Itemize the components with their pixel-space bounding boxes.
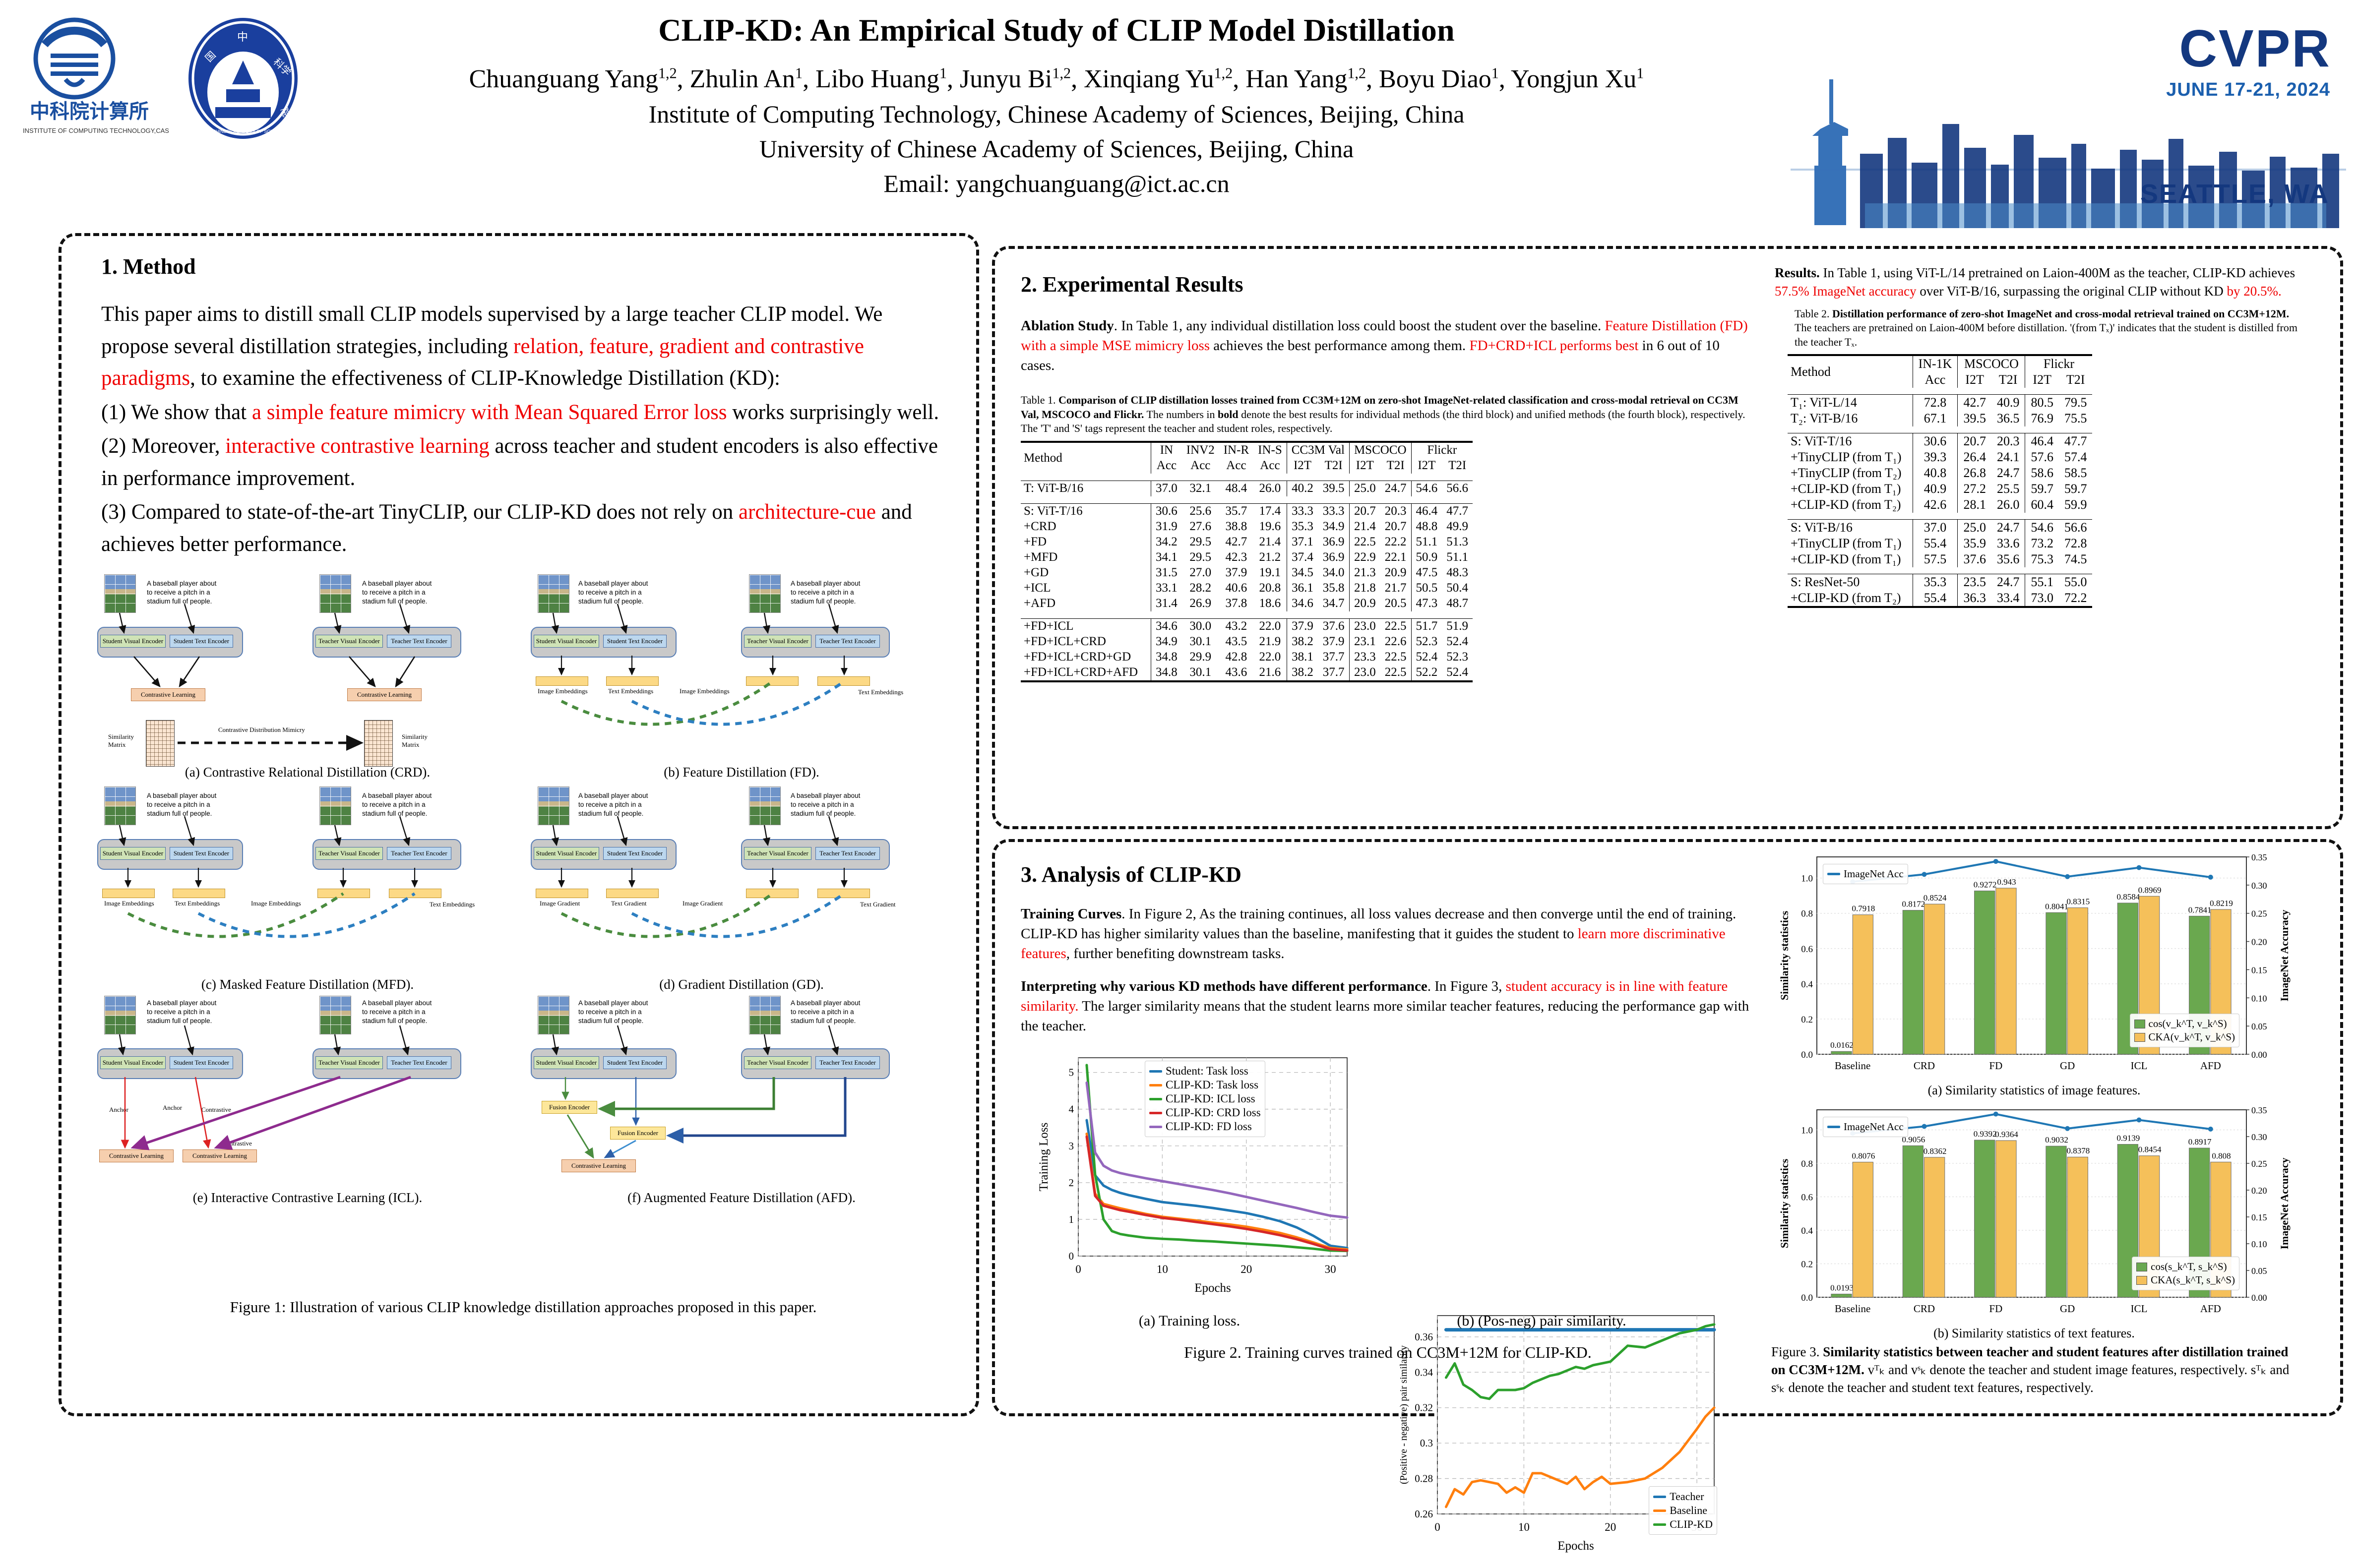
category-label: ICL	[2131, 1060, 2148, 1072]
row-method-label: +FD+ICL+CRD	[1021, 634, 1151, 650]
bar	[1924, 904, 1945, 1054]
svg-text:Similarity statistics: Similarity statistics	[1778, 1158, 1791, 1248]
table-cell: 57.5	[1913, 551, 1958, 567]
col-sub-T2I: T2I	[1991, 372, 2025, 388]
table-cell: 42.7	[1958, 395, 1991, 411]
table-1-distillation-losses: MethodININV2IN-RIN-SCC3M ValMSCOCOFlickr…	[1021, 441, 1473, 682]
table-row: +TinyCLIP (from T₁)39.326.424.157.657.4	[1788, 449, 2092, 465]
table-cell: 34.0	[1318, 565, 1349, 581]
table-row: +CLIP-KD (from T₂)55.436.333.473.072.2	[1788, 590, 2092, 606]
table-cell: 27.6	[1182, 519, 1219, 535]
table-cell: 26.8	[1958, 465, 1991, 481]
bar	[1903, 1146, 1923, 1297]
table-cell: 21.8	[1349, 581, 1380, 596]
table-cell: 22.5	[1349, 535, 1380, 550]
svg-text:20: 20	[1241, 1263, 1252, 1275]
table-cell: 31.4	[1151, 596, 1182, 611]
table-cell: 58.5	[2059, 465, 2093, 481]
row-method-label: +FD+ICL+CRD+AFD	[1021, 665, 1151, 680]
table-cell: 33.6	[1991, 536, 2025, 551]
legend-label: Student: Task loss	[1166, 1065, 1248, 1078]
col-sub-I2T: I2T	[1958, 372, 1991, 388]
svg-text:5: 5	[1069, 1067, 1074, 1079]
table-cell: 52.4	[1442, 665, 1473, 680]
bar	[1853, 1162, 1873, 1297]
table-row: +ICL33.128.240.620.836.135.821.821.750.5…	[1021, 581, 1473, 596]
interpreting-paragraph: Interpreting why various KD methods have…	[1021, 976, 1755, 1036]
table-1-caption: Table 1. Comparison of CLIP distillation…	[1021, 393, 1753, 436]
figure-2: 0123450102030EpochsTraining LossStudent:…	[1021, 1045, 1755, 1362]
legend-item: CKA(s_k^T, s_k^S)	[2136, 1274, 2235, 1286]
svg-text:0.10: 0.10	[2251, 1239, 2267, 1249]
table-cell: 72.8	[1913, 395, 1958, 411]
svg-text:0: 0	[1434, 1521, 1440, 1533]
analysis-left-column: 3. Analysis of CLIP-KD Training Curves. …	[1021, 862, 1755, 1362]
table-cell: 55.4	[1913, 590, 1958, 606]
table-cell: 42.7	[1219, 535, 1253, 550]
category-label: FD	[1989, 1303, 2002, 1315]
bar-value-label: 0.808	[2212, 1151, 2231, 1160]
row-method-label: +CRD	[1021, 519, 1151, 535]
table-cell: 52.4	[1411, 650, 1442, 665]
table-row: +CLIP-KD (from T₂)42.628.126.060.459.9	[1788, 497, 2092, 513]
figure-1c-mfd: A baseball player about to receive a pit…	[94, 784, 521, 992]
panel-analysis: 3. Analysis of CLIP-KD Training Curves. …	[992, 839, 2343, 1416]
table-cell: 47.5	[1411, 565, 1442, 581]
table-cell: 56.6	[1442, 481, 1473, 496]
table-cell: 37.0	[1913, 520, 1958, 536]
table-cell: 58.6	[2025, 465, 2059, 481]
table-row: T: ViT-B/1637.032.148.426.040.239.525.02…	[1021, 481, 1473, 496]
page-title: CLIP-KD: An Empirical Study of CLIP Mode…	[327, 12, 1786, 49]
table-cell: 25.5	[1991, 481, 2025, 497]
bar	[2067, 908, 2088, 1054]
svg-text:ImageNet Accuracy: ImageNet Accuracy	[2278, 909, 2291, 1001]
table-row: +TinyCLIP (from T₂)40.826.824.758.658.5	[1788, 465, 2092, 481]
table-cell: 36.9	[1318, 535, 1349, 550]
figure-2-caption: Figure 2. Training curves trained on CC3…	[1021, 1343, 1755, 1362]
bar	[1924, 1157, 1945, 1297]
svg-text:0.4: 0.4	[1801, 979, 1813, 990]
legend-swatch	[1149, 1126, 1162, 1128]
row-method-label: +CLIP-KD (from T₁)	[1788, 551, 1913, 567]
table-cell: 37.1	[1287, 535, 1318, 550]
table-cell: 34.5	[1287, 565, 1318, 581]
legend-item: Baseline	[1653, 1504, 1713, 1517]
bar-value-label: 0.8315	[2066, 897, 2090, 906]
table-cell: 38.2	[1287, 665, 1318, 680]
svg-text:0.8: 0.8	[1801, 1159, 1813, 1169]
table-cell: 33.4	[1991, 590, 2025, 606]
category-label: ICL	[2131, 1303, 2148, 1315]
svg-text:0.36: 0.36	[1415, 1331, 1433, 1343]
method-paragraph-4: (3) Compared to state-of-the-art TinyCLI…	[101, 496, 944, 560]
table-cell: 38.1	[1287, 650, 1318, 665]
chart-legend-bars: cos(s_k^T, s_k^S)CKA(s_k^T, s_k^S)	[2132, 1257, 2239, 1290]
col-group-Flickr: Flickr	[2025, 355, 2093, 372]
table-row: +FD+ICL34.630.043.222.037.937.623.022.55…	[1021, 618, 1473, 634]
svg-text:0.05: 0.05	[2251, 1022, 2267, 1031]
table-header-row: MethodIN-1KMSCOCOFlickr	[1788, 355, 2092, 372]
table-cell: 75.3	[2025, 551, 2059, 567]
legend-label: Baseline	[1670, 1504, 1707, 1517]
cvpr-banner: CVPR JUNE 17-21, 2024 SEATTLE, WA	[1791, 5, 2346, 228]
table-cell: 20.7	[1380, 519, 1411, 535]
row-method-label: S: ViT-T/16	[1021, 503, 1151, 519]
table-cell: 36.9	[1318, 550, 1349, 565]
figure-1f-connectors	[531, 996, 952, 1209]
table-row: T₁: ViT-L/1472.842.740.980.579.5	[1788, 395, 2092, 411]
table-cell: 43.5	[1219, 634, 1253, 650]
table-cell: 34.2	[1151, 535, 1182, 550]
svg-text:0.0: 0.0	[1801, 1050, 1813, 1060]
legend-item: ImageNet Acc	[1827, 1121, 1904, 1133]
col-sub-I2T: I2T	[1411, 458, 1442, 474]
table-cell: 20.7	[1958, 433, 1991, 450]
table-cell: 37.7	[1318, 650, 1349, 665]
row-method-label: +MFD	[1021, 550, 1151, 565]
table-cell: 36.3	[1958, 590, 1991, 606]
legend-label: cos(v_k^T, v_k^S)	[2149, 1018, 2227, 1030]
bar-value-label: 0.8969	[2138, 885, 2162, 895]
legend-swatch	[1827, 873, 1840, 875]
bar	[1831, 1294, 1852, 1297]
table-cell: 20.7	[1349, 503, 1380, 519]
table-cell: 67.1	[1913, 411, 1958, 426]
bar	[1975, 891, 1995, 1054]
table-cell: 22.2	[1380, 535, 1411, 550]
bar	[2046, 1146, 2066, 1297]
bar-value-label: 0.8172	[1902, 900, 1925, 909]
legend-swatch	[1653, 1509, 1666, 1512]
svg-text:THE CHINESE ACADEMY OF SCIENCE: THE CHINESE ACADEMY OF SCIENCES	[202, 129, 287, 134]
legend-swatch	[1653, 1496, 1666, 1498]
legend-label: cos(s_k^T, s_k^S)	[2151, 1261, 2227, 1273]
table-cell: 37.7	[1318, 665, 1349, 680]
method-highlight-arch-cue: architecture-cue	[739, 500, 876, 524]
svg-text:Similarity statistics: Similarity statistics	[1778, 910, 1791, 1000]
legend-swatch	[2136, 1276, 2147, 1285]
legend-swatch	[1149, 1098, 1162, 1100]
table-cell: 72.2	[2059, 590, 2093, 606]
table-cell: 46.4	[1411, 503, 1442, 519]
row-method-label: +FD+ICL	[1021, 618, 1151, 634]
table-row: +CRD31.927.638.819.635.334.921.420.748.8…	[1021, 519, 1473, 535]
svg-text:30: 30	[1325, 1263, 1336, 1275]
figure-1e-connectors	[94, 996, 521, 1209]
table-cell: 50.5	[1411, 581, 1442, 596]
row-method-label: +ICL	[1021, 581, 1151, 596]
table-cell: 35.9	[1958, 536, 1991, 551]
bar-value-label: 0.8041	[2045, 902, 2068, 911]
svg-text:0.0: 0.0	[1801, 1293, 1813, 1303]
table-cell: 26.0	[1253, 481, 1287, 496]
table-cell: 52.4	[1442, 634, 1473, 650]
figure-3b-text-features: 0.00.20.40.60.81.00.000.050.100.150.200.…	[1771, 1102, 2302, 1325]
table-cell: 24.7	[1380, 481, 1411, 496]
figure-1: A baseball player about to receive a pit…	[94, 571, 952, 1335]
table-cell: 39.3	[1913, 449, 1958, 465]
results-section-title: 2. Experimental Results	[1021, 272, 1753, 297]
svg-text:0.15: 0.15	[2251, 965, 2267, 975]
table-cell: 33.3	[1287, 503, 1318, 519]
svg-text:0.35: 0.35	[2251, 852, 2267, 862]
table-cell: 26.9	[1182, 596, 1219, 611]
method-highlight-icl: interactive contrastive learning	[225, 434, 489, 458]
ict-logo: 中科院计算所 INSTITUTE OF COMPUTING TECHNOLOGY…	[20, 15, 169, 149]
table-cell: 35.3	[1913, 574, 1958, 591]
table-cell: 43.6	[1219, 665, 1253, 680]
poster-root: 中科院计算所 INSTITUTE OF COMPUTING TECHNOLOGY…	[0, 0, 2357, 1428]
svg-text:0.30: 0.30	[2251, 1132, 2267, 1142]
table-row: S: ViT-T/1630.625.635.717.433.333.320.72…	[1021, 503, 1473, 519]
table-cell: 34.6	[1287, 596, 1318, 611]
row-method-label: +GD	[1021, 565, 1151, 581]
figure-1a-connectors	[94, 571, 521, 780]
col-group-INV2: INV2	[1182, 442, 1219, 458]
svg-text:0.20: 0.20	[2251, 937, 2267, 947]
table-cell: 72.8	[2059, 536, 2093, 551]
figure-2a-caption: (a) Training loss.	[1031, 1313, 1348, 1329]
table-cell: 57.6	[2025, 449, 2059, 465]
table-cell: 40.2	[1287, 481, 1318, 496]
svg-text:0.8: 0.8	[1801, 909, 1813, 919]
title-block: CLIP-KD: An Empirical Study of CLIP Mode…	[327, 12, 1786, 201]
legend-swatch	[1653, 1523, 1666, 1526]
table-cell: 25.0	[1349, 481, 1380, 496]
table-cell: 20.8	[1253, 581, 1287, 596]
figure-1a-crd: A baseball player about to receive a pit…	[94, 571, 521, 780]
bar-value-label: 0.9032	[2045, 1135, 2068, 1145]
table-cell: 30.0	[1182, 618, 1219, 634]
table-cell: 59.7	[2025, 481, 2059, 497]
table-cell: 21.3	[1349, 565, 1380, 581]
table-cell: 37.6	[1318, 618, 1349, 634]
table-cell: 23.0	[1349, 665, 1380, 680]
table-cell: 59.7	[2059, 481, 2093, 497]
svg-text:Epochs: Epochs	[1557, 1539, 1594, 1553]
table-cell: 47.7	[2059, 433, 2093, 450]
results-highlight-gain: by 20.5%.	[2227, 284, 2281, 299]
table-cell: 22.0	[1253, 650, 1287, 665]
bar-value-label: 0.9392	[1974, 1129, 1997, 1139]
figure-1d-gd: A baseball player about to receive a pit…	[531, 784, 952, 992]
table-row: S: ViT-B/1637.025.024.754.656.6	[1788, 520, 2092, 536]
bar-value-label: 0.0162	[1830, 1040, 1854, 1050]
svg-text:0: 0	[1069, 1250, 1074, 1262]
table-cell: 34.6	[1151, 618, 1182, 634]
table-cell: 40.8	[1913, 465, 1958, 481]
bar	[1996, 1141, 2016, 1297]
bar-value-label: 0.8524	[1923, 893, 1947, 903]
category-label: CRD	[1914, 1303, 1935, 1315]
table-cell: 21.4	[1349, 519, 1380, 535]
legend-item: CLIP-KD: FD loss	[1149, 1120, 1261, 1133]
table-cell: 35.7	[1219, 503, 1253, 519]
panel-experimental-results: 2. Experimental Results Ablation Study. …	[992, 246, 2343, 829]
table-cell: 21.2	[1253, 550, 1287, 565]
legend-item: CLIP-KD: CRD loss	[1149, 1106, 1261, 1119]
col-sub-Acc: Acc	[1151, 458, 1182, 474]
table-row: +FD+ICL+CRD+AFD34.830.143.621.638.237.72…	[1021, 665, 1473, 680]
table-cell: 74.5	[2059, 551, 2093, 567]
legend-label: CLIP-KD	[1670, 1518, 1713, 1531]
poster-header: 中科院计算所 INSTITUTE OF COMPUTING TECHNOLOGY…	[0, 0, 2357, 238]
author-list: Chuanguang Yang1,2, Zhulin An1, Libo Hua…	[327, 61, 1786, 97]
row-method-label: +AFD	[1021, 596, 1151, 611]
table-cell: 54.6	[1411, 481, 1442, 496]
table-cell: 42.6	[1913, 497, 1958, 513]
svg-text:Training Loss: Training Loss	[1037, 1123, 1051, 1192]
method-highlight-mse: a simple feature mimicry with Mean Squar…	[252, 401, 727, 424]
table-cell: 30.6	[1913, 433, 1958, 450]
cas-logo: 中 国 科学 院 学 THE CHINESE ACADEMY OF SCIENC…	[179, 15, 308, 144]
figure-3a-caption: (a) Similarity statistics of image featu…	[1771, 1083, 2297, 1098]
figure-3-caption: Figure 3. Similarity statistics between …	[1771, 1343, 2302, 1397]
table-cell: 75.5	[2059, 411, 2093, 426]
figure-1e-caption: (e) Interactive Contrastive Learning (IC…	[94, 1190, 521, 1206]
bar	[2046, 912, 2066, 1054]
training-curves-paragraph: Training Curves. In Figure 2, As the tra…	[1021, 904, 1755, 964]
table-cell: 30.1	[1182, 634, 1219, 650]
legend-item: Student: Task loss	[1149, 1065, 1261, 1078]
category-label: GD	[2060, 1303, 2075, 1315]
row-method-label: +TinyCLIP (from T₂)	[1788, 465, 1913, 481]
row-method-label: S: ResNet-50	[1788, 574, 1913, 591]
affiliation-2: University of Chinese Academy of Science…	[327, 131, 1786, 166]
table-row: S: ResNet-5035.323.524.755.155.0	[1788, 574, 2092, 591]
table-cell: 20.3	[1380, 503, 1411, 519]
table-cell: 47.7	[1442, 503, 1473, 519]
table-cell: 23.3	[1349, 650, 1380, 665]
table-cell: 73.0	[2025, 590, 2059, 606]
figure-3a-image-features: 0.00.20.40.60.81.00.000.050.100.150.200.…	[1771, 849, 2302, 1082]
results-right-column: Results. In Table 1, using ViT-L/14 pret…	[1775, 264, 2320, 608]
table-cell: 46.4	[2025, 433, 2059, 450]
category-label: Baseline	[1835, 1303, 1870, 1315]
table-cell: 20.9	[1380, 565, 1411, 581]
figure-1c-connectors	[94, 784, 521, 992]
table-cell: 48.4	[1219, 481, 1253, 496]
legend-item: CLIP-KD	[1653, 1518, 1713, 1531]
figure-1a-caption: (a) Contrastive Relational Distillation …	[94, 765, 521, 780]
bar	[1853, 915, 1873, 1054]
chart-legend: TeacherBaselineCLIP-KD	[1649, 1486, 1717, 1535]
svg-text:0: 0	[1075, 1263, 1081, 1275]
svg-text:0.20: 0.20	[2251, 1186, 2267, 1196]
col-sub-T2I: T2I	[1318, 458, 1349, 474]
table-cell: 28.1	[1958, 497, 1991, 513]
category-label: GD	[2060, 1060, 2075, 1072]
legend-item: CKA(v_k^T, v_k^S)	[2134, 1031, 2235, 1043]
svg-text:1.0: 1.0	[1801, 874, 1813, 884]
svg-text:Epochs: Epochs	[1194, 1281, 1231, 1295]
col-group-IN-R: IN-R	[1219, 442, 1253, 458]
row-method-label: +FD	[1021, 535, 1151, 550]
col-group-IN-1K: IN-1K	[1913, 355, 1958, 372]
table-cell: 37.9	[1219, 565, 1253, 581]
row-method-label: +FD+ICL+CRD+GD	[1021, 650, 1151, 665]
svg-text:2: 2	[1069, 1177, 1074, 1189]
svg-text:0.6: 0.6	[1801, 944, 1813, 955]
table-cell: 48.8	[1411, 519, 1442, 535]
table-cell: 18.6	[1253, 596, 1287, 611]
svg-text:0.10: 0.10	[2251, 993, 2267, 1003]
table-cell: 56.6	[2059, 520, 2093, 536]
bar-value-label: 0.8076	[1852, 1151, 1875, 1160]
legend-swatch	[1149, 1084, 1162, 1086]
analysis-right-column: 0.00.20.40.60.81.00.000.050.100.150.200.…	[1771, 849, 2327, 1397]
table-cell: 52.3	[1411, 634, 1442, 650]
panel-method: 1. Method This paper aims to distill sma…	[59, 233, 979, 1416]
table-cell: 39.5	[1318, 481, 1349, 496]
svg-text:0.35: 0.35	[2251, 1105, 2267, 1115]
table-row: +FD+ICL+CRD34.930.143.521.938.237.923.12…	[1021, 634, 1473, 650]
bar-value-label: 0.9139	[2116, 1134, 2140, 1143]
table-cell: 25.0	[1958, 520, 1991, 536]
table-cell: 37.8	[1219, 596, 1253, 611]
row-method-label: +CLIP-KD (from T₂)	[1788, 590, 1913, 606]
row-method-label: T: ViT-B/16	[1021, 481, 1151, 496]
figure-1d-connectors	[531, 784, 952, 992]
table-row: +FD34.229.542.721.437.136.922.522.251.15…	[1021, 535, 1473, 550]
table-cell: 43.2	[1219, 618, 1253, 634]
table-cell: 47.3	[1411, 596, 1442, 611]
svg-text:0.32: 0.32	[1415, 1402, 1433, 1414]
bar-value-label: 0.8378	[2066, 1146, 2090, 1155]
table-cell: 26.4	[1958, 449, 1991, 465]
table-cell: 48.7	[1442, 596, 1473, 611]
col-group-IN-S: IN-S	[1253, 442, 1287, 458]
table-cell: 30.1	[1182, 665, 1219, 680]
row-method-label: +CLIP-KD (from T₂)	[1788, 497, 1913, 513]
table-cell: 34.9	[1318, 519, 1349, 535]
table-cell: 51.1	[1411, 535, 1442, 550]
category-label: Baseline	[1835, 1060, 1870, 1072]
results-paragraph: Results. In Table 1, using ViT-L/14 pret…	[1775, 264, 2320, 301]
table-cell: 40.9	[1913, 481, 1958, 497]
bar-value-label: 0.8584	[2116, 892, 2140, 902]
table-cell: 55.4	[1913, 536, 1958, 551]
table-cell: 28.2	[1182, 581, 1219, 596]
table-cell: 24.7	[1991, 520, 2025, 536]
table-cell: 35.3	[1287, 519, 1318, 535]
table-cell: 19.1	[1253, 565, 1287, 581]
table-cell: 20.9	[1349, 596, 1380, 611]
table-cell: 55.1	[2025, 574, 2059, 591]
svg-text:10: 10	[1157, 1263, 1168, 1275]
legend-label: ImageNet Acc	[1844, 1121, 1904, 1133]
chart-legend-line: ImageNet Acc	[1823, 1117, 1908, 1137]
method-paragraph-2: (1) We show that a simple feature mimicr…	[101, 397, 944, 429]
table-cell: 37.0	[1151, 481, 1182, 496]
table-cell: 23.0	[1349, 618, 1380, 634]
table-row: +GD31.527.037.919.134.534.021.320.947.54…	[1021, 565, 1473, 581]
table-row: +AFD31.426.937.818.634.634.720.920.547.3…	[1021, 596, 1473, 611]
table-cell: 55.0	[2059, 574, 2093, 591]
legend-item: Teacher	[1653, 1490, 1713, 1503]
table-cell: 22.5	[1380, 618, 1411, 634]
table-cell: 24.7	[1991, 574, 2025, 591]
legend-label: CKA(s_k^T, s_k^S)	[2151, 1274, 2235, 1286]
legend-swatch	[1149, 1112, 1162, 1114]
col-sub-I2T: I2T	[1349, 458, 1380, 474]
table-cell: 79.5	[2059, 395, 2093, 411]
legend-label: CLIP-KD: ICL loss	[1166, 1092, 1255, 1105]
table-cell: 24.1	[1991, 449, 2025, 465]
table-cell: 73.2	[2025, 536, 2059, 551]
category-label: FD	[1989, 1060, 2002, 1072]
